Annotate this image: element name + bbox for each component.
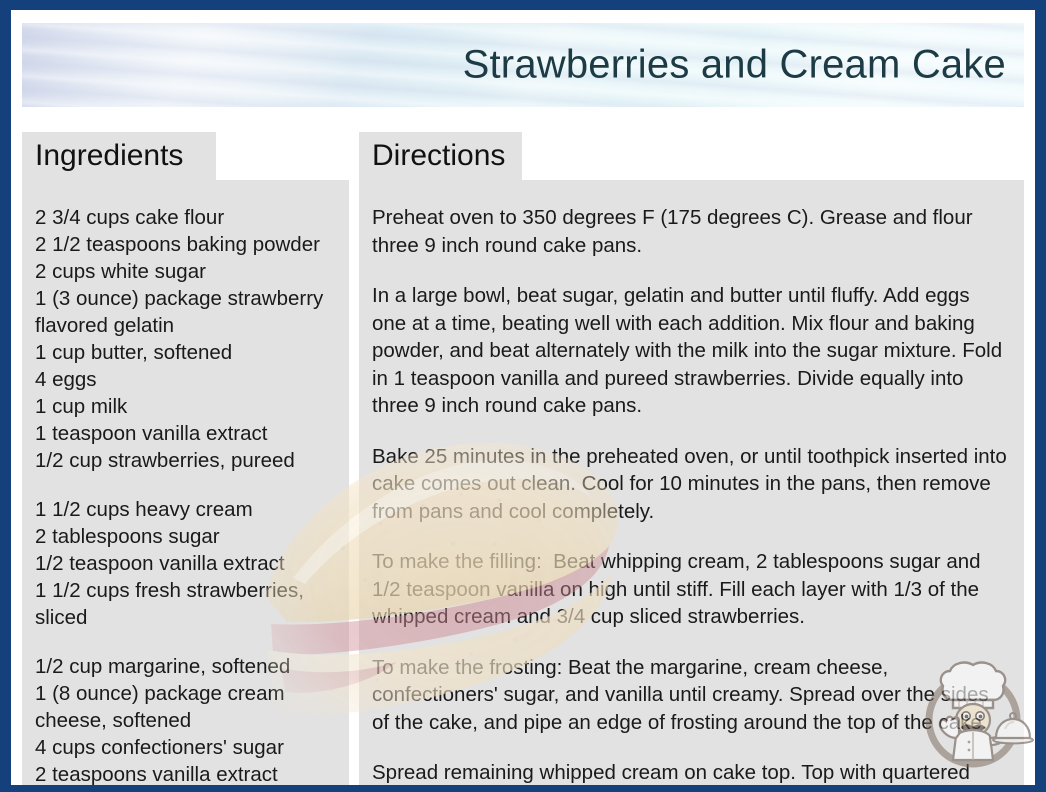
ingredients-heading: Ingredients — [35, 141, 183, 171]
list-item: 1/2 teaspoon vanilla extract — [35, 550, 333, 577]
list-item: 1 (3 ounce) package strawberry flavored … — [35, 285, 333, 339]
list-item: 2 cups white sugar — [35, 258, 333, 285]
direction-step: Bake 25 minutes in the preheated oven, o… — [372, 443, 1008, 526]
list-item: 4 eggs — [35, 366, 333, 393]
list-item: 1 (8 ounce) package cream cheese, soften… — [35, 680, 333, 734]
ingredients-column: Ingredients 2 3/4 cups cake flour 2 1/2 … — [22, 132, 349, 785]
list-item: 1/2 cup margarine, softened — [35, 653, 333, 680]
list-item: 1/2 cup strawberries, pureed — [35, 447, 333, 474]
directions-heading-tab: Directions — [359, 132, 522, 180]
directions-heading: Directions — [372, 141, 505, 171]
direction-step: Preheat oven to 350 degrees F (175 degre… — [372, 204, 1008, 259]
list-item: 2 3/4 cups cake flour — [35, 204, 333, 231]
direction-step: Spread remaining whipped cream on cake t… — [372, 759, 1008, 785]
list-item: 1 cup butter, softened — [35, 339, 333, 366]
recipe-card: Strawberries and Cream Cake Ingredients … — [0, 0, 1046, 792]
list-item: 1 1/2 cups fresh strawberries, sliced — [35, 577, 333, 631]
list-item: 1 cup milk — [35, 393, 333, 420]
ingredients-heading-tab: Ingredients — [22, 132, 216, 180]
list-item: 2 1/2 teaspoons baking powder — [35, 231, 333, 258]
recipe-card-inner: Strawberries and Cream Cake Ingredients … — [11, 10, 1035, 785]
list-item: 4 cups confectioners' sugar — [35, 734, 333, 761]
ingredients-panel: 2 3/4 cups cake flour 2 1/2 teaspoons ba… — [22, 180, 349, 785]
directions-column: Directions Preheat oven to 350 degrees F… — [359, 132, 1024, 785]
list-item: 2 tablespoons sugar — [35, 523, 333, 550]
title-banner: Strawberries and Cream Cake — [22, 23, 1024, 107]
direction-step: To make the frosting: Beat the margarine… — [372, 654, 1008, 737]
directions-panel: Preheat oven to 350 degrees F (175 degre… — [359, 180, 1024, 785]
list-item: 1 teaspoon vanilla extract — [35, 420, 333, 447]
list-item: 1 1/2 cups heavy cream — [35, 496, 333, 523]
direction-step: In a large bowl, beat sugar, gelatin and… — [372, 282, 1008, 420]
ingredient-group: 1 1/2 cups heavy cream 2 tablespoons sug… — [35, 496, 333, 631]
list-item: 2 teaspoons vanilla extract — [35, 761, 333, 785]
page-title: Strawberries and Cream Cake — [463, 43, 1006, 88]
ingredient-group: 2 3/4 cups cake flour 2 1/2 teaspoons ba… — [35, 204, 333, 474]
direction-step: To make the filling: Beat whipping cream… — [372, 548, 1008, 631]
ingredient-group: 1/2 cup margarine, softened 1 (8 ounce) … — [35, 653, 333, 785]
